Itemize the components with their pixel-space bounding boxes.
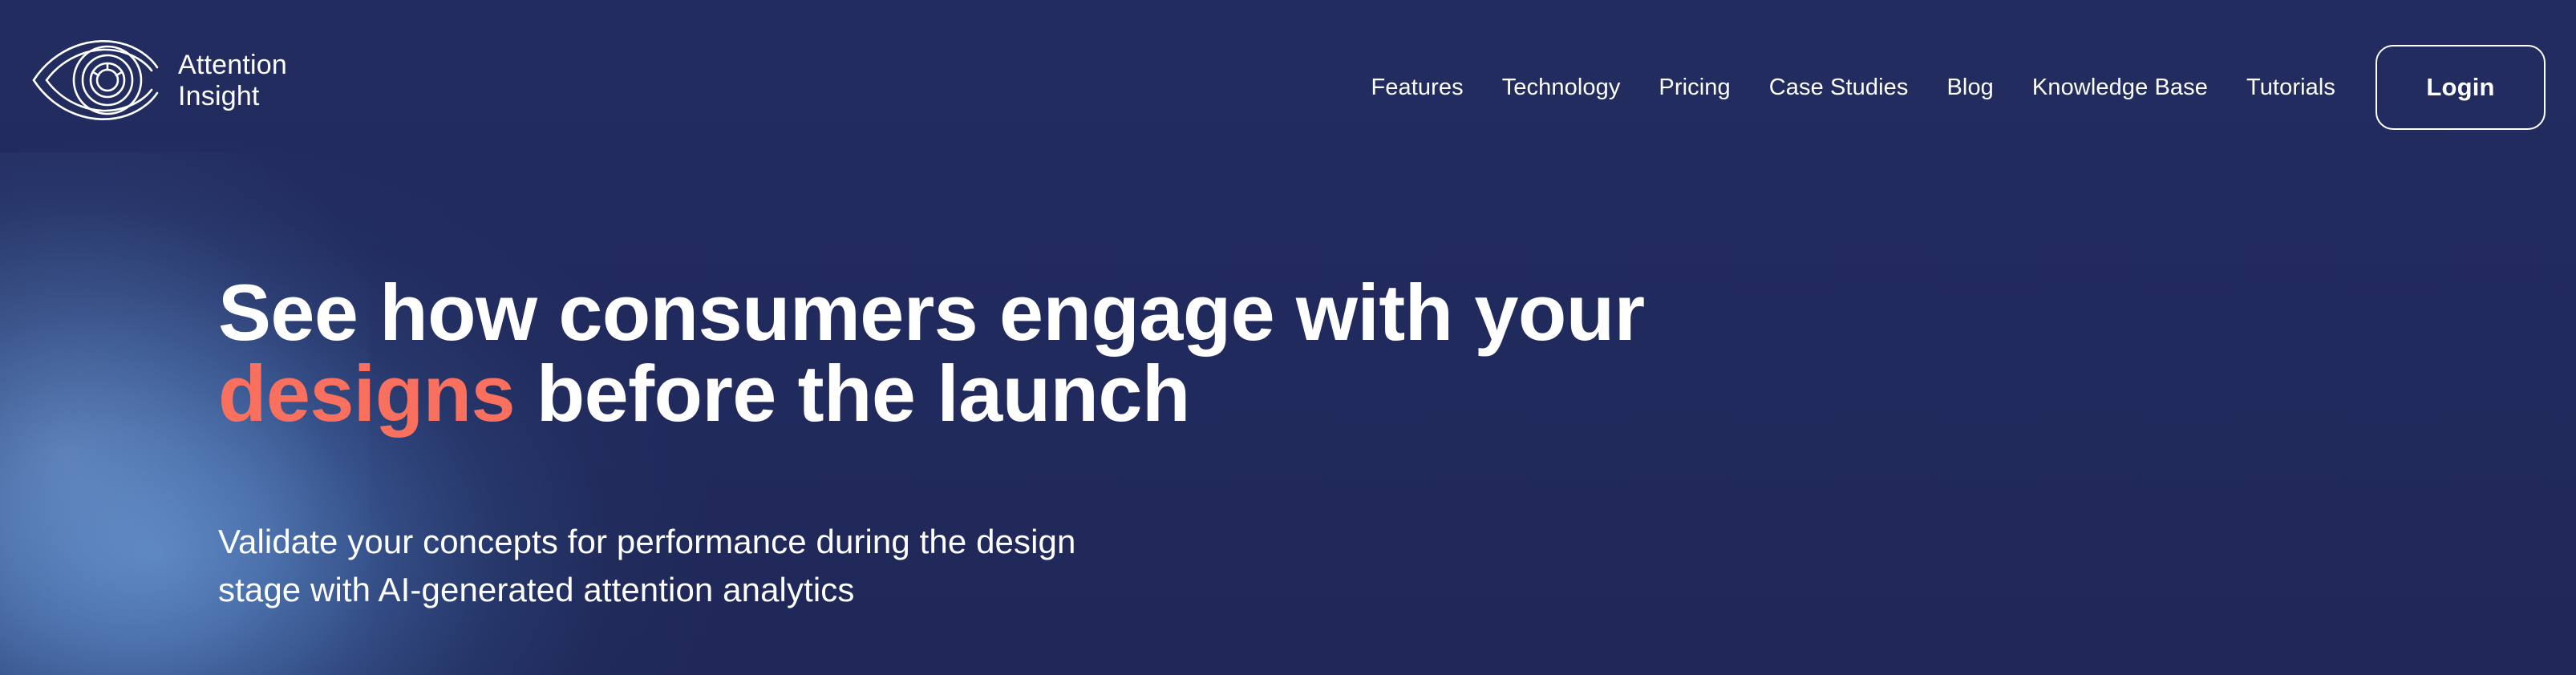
hero-subtitle-line1: Validate your concepts for performance d… (218, 518, 1469, 566)
nav-item-tutorials[interactable]: Tutorials (2227, 66, 2355, 110)
nav-item-technology[interactable]: Technology (1483, 66, 1640, 110)
nav-item-pricing[interactable]: Pricing (1639, 66, 1749, 110)
hero-title-part1: See how consumers engage with your (218, 268, 1645, 357)
login-button[interactable]: Login (2376, 45, 2546, 130)
hero-subtitle-line2: stage with AI-generated attention analyt… (218, 566, 1469, 614)
nav-item-blog[interactable]: Blog (1927, 66, 2012, 110)
brand-name-line1: Attention (178, 50, 287, 81)
hero-section: Attention Insight Features Technology Pr… (0, 0, 2576, 675)
hero-subtitle: Validate your concepts for performance d… (218, 435, 1469, 613)
site-header: Attention Insight Features Technology Pr… (0, 0, 2576, 175)
page-title: See how consumers engage with your desig… (218, 273, 1862, 435)
nav-item-features[interactable]: Features (1351, 66, 1482, 110)
hero-copy: See how consumers engage with your desig… (218, 273, 1983, 613)
hero-title-accent: designs (218, 349, 515, 438)
hero-title-part2: before the launch (515, 349, 1190, 438)
brand-name-line2: Insight (178, 81, 287, 112)
eye-logo-icon (30, 35, 164, 125)
nav-item-knowledge-base[interactable]: Knowledge Base (2013, 66, 2227, 110)
nav-item-case-studies[interactable]: Case Studies (1750, 66, 1928, 110)
main-navigation: Features Technology Pricing Case Studies… (1351, 45, 2546, 130)
brand-wordmark: Attention Insight (178, 50, 287, 112)
brand-logo-link[interactable]: Attention Insight (30, 35, 287, 125)
